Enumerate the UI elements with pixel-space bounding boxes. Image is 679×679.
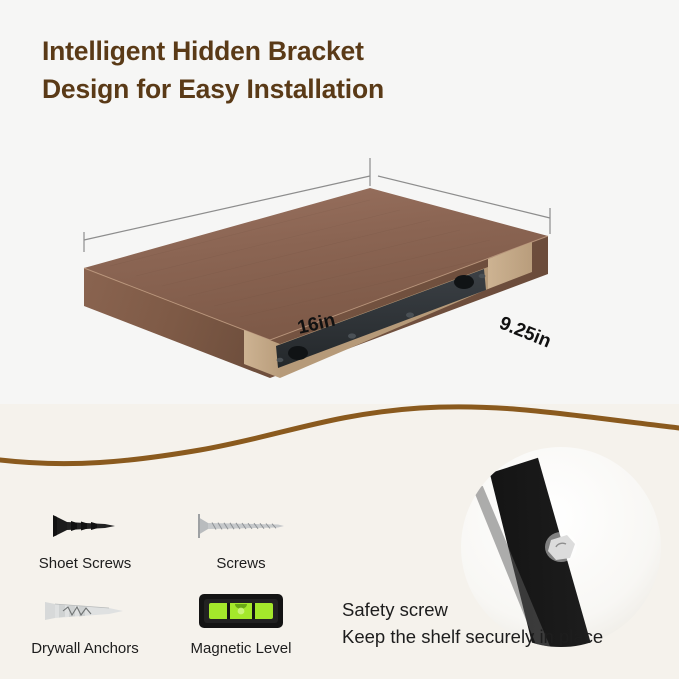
title-line-1: Intelligent Hidden Bracket — [42, 32, 602, 70]
page-title: Intelligent Hidden Bracket Design for Ea… — [42, 32, 602, 108]
shelf-illustration: 16in 9.25in — [70, 140, 570, 400]
bracket-screw-hole — [348, 333, 356, 338]
bracket-screw-hole — [406, 312, 414, 317]
hardware-label: Screws — [172, 555, 310, 572]
hardware-label: Magnetic Level — [172, 640, 310, 657]
hardware-item-magnetic-level: Magnetic Level — [172, 588, 310, 657]
hardware-item-drywall-anchors: Drywall Anchors — [14, 588, 156, 657]
bracket-hole — [288, 346, 308, 360]
bracket-screw-hole — [479, 274, 486, 278]
bracket-screw-hole — [277, 358, 284, 362]
safety-line-1: Safety screw — [342, 596, 672, 623]
hardware-label: Drywall Anchors — [14, 640, 156, 657]
title-line-2: Design for Easy Installation — [42, 70, 602, 108]
safety-line-2: Keep the shelf securely in place — [342, 623, 672, 650]
bracket-hole — [454, 275, 474, 289]
hardware-item-screws: Screws — [172, 503, 310, 572]
silver-screw-icon — [172, 503, 310, 549]
drywall-anchor-icon — [14, 588, 156, 634]
black-screw-icon — [14, 503, 156, 549]
hardware-label: Shoet Screws — [14, 555, 156, 572]
hardware-item-shoet-screws: Shoet Screws — [14, 503, 156, 572]
magnetic-level-icon — [172, 588, 310, 634]
product-infographic: Intelligent Hidden Bracket Design for Ea… — [0, 0, 679, 679]
safety-caption: Safety screw Keep the shelf securely in … — [342, 596, 672, 650]
